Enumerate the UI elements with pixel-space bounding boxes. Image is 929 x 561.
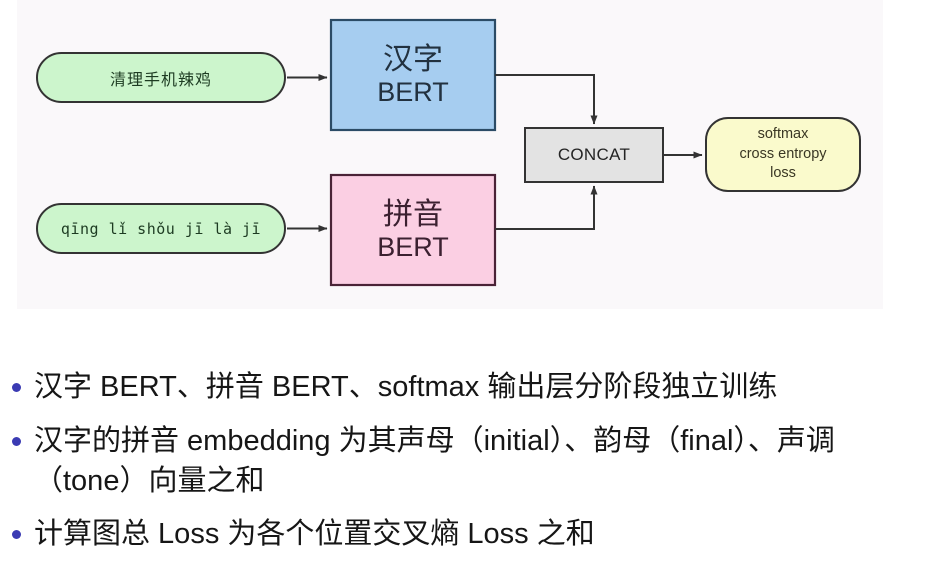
pinyin-bert-shape xyxy=(331,175,495,285)
list-item: 汉字的拼音 embedding 为其声母（initial）、韵母（final）、… xyxy=(12,421,927,501)
diagram-canvas xyxy=(17,0,883,309)
hanzi-input-shape xyxy=(37,53,285,102)
concat-shape xyxy=(525,128,663,182)
list-item: 计算图总 Loss 为各个位置交叉熵 Loss 之和 xyxy=(12,514,927,554)
hanzi-bert-shape xyxy=(331,20,495,130)
architecture-diagram: 清理手机辣鸡 qīng lǐ shǒu jī là jī 汉字 BERT 拼音 … xyxy=(17,0,883,309)
bullet-text-2: 汉字的拼音 embedding 为其声母（initial）、韵母（final）、… xyxy=(34,421,927,501)
edge-hanzi-bert-to-concat xyxy=(495,75,594,124)
pinyin-input-shape xyxy=(37,204,285,253)
edge-pinyin-bert-to-concat xyxy=(495,186,594,229)
bullet-dot-icon xyxy=(12,383,21,392)
bullet-dot-icon xyxy=(12,437,21,446)
bullet-text-1: 汉字 BERT、拼音 BERT、softmax 输出层分阶段独立训练 xyxy=(34,367,777,407)
bullet-dot-icon xyxy=(12,530,21,539)
bullet-list: 汉字 BERT、拼音 BERT、softmax 输出层分阶段独立训练 汉字的拼音… xyxy=(0,309,929,561)
list-item: 汉字 BERT、拼音 BERT、softmax 输出层分阶段独立训练 xyxy=(12,367,927,407)
softmax-shape xyxy=(706,118,860,191)
bullet-text-3: 计算图总 Loss 为各个位置交叉熵 Loss 之和 xyxy=(34,514,595,554)
